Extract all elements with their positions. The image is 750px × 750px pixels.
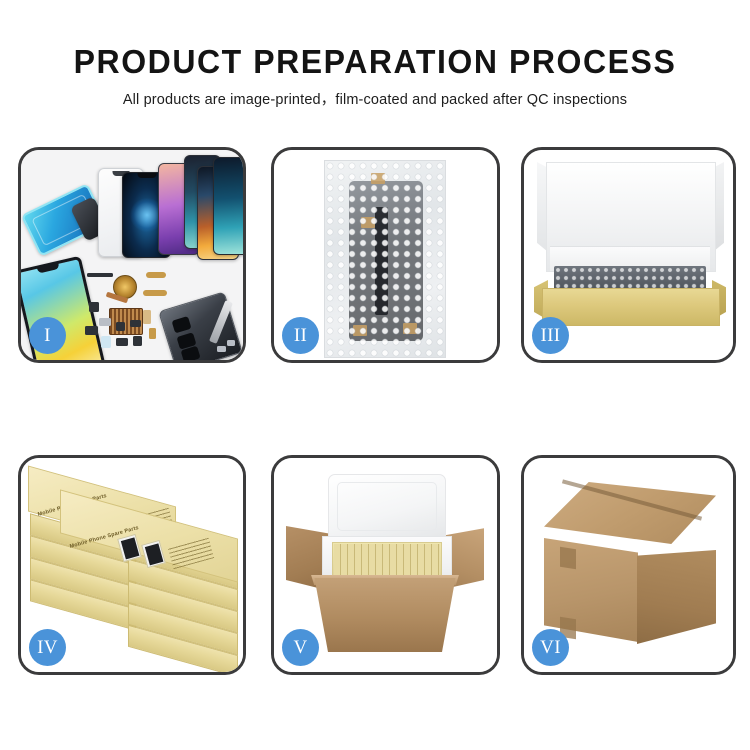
step-panel-3[interactable]: III: [521, 147, 736, 363]
carton-side-face: [637, 550, 716, 644]
chip-part: [130, 320, 141, 327]
chip-part: [217, 346, 226, 352]
carton-body: [310, 578, 460, 652]
chip-part: [116, 338, 128, 346]
step-panel-2[interactable]: II: [271, 147, 500, 363]
chip-part: [143, 310, 151, 324]
screen-cyan-display: [213, 157, 246, 255]
carton-tape-tab: [560, 547, 576, 570]
step-badge-5: V: [282, 629, 319, 666]
styrofoam-lid: [328, 474, 446, 544]
step-badge-4: IV: [29, 629, 66, 666]
chip-part: [227, 340, 235, 346]
chip-part: [101, 336, 111, 348]
bubble-bag: [324, 160, 446, 358]
step-panel-4[interactable]: Mobile Phone Spare Parts Mobile Phone Sp…: [18, 455, 246, 675]
step-panel-5[interactable]: V: [271, 455, 500, 675]
chip-part: [87, 273, 113, 277]
process-step-grid: I II III: [0, 147, 750, 687]
step-badge-1: I: [29, 317, 66, 354]
chip-part: [116, 322, 125, 331]
page-subtitle: All products are image-printed，film-coat…: [0, 80, 750, 109]
page-header: PRODUCT PREPARATION PROCESS All products…: [0, 0, 750, 109]
chip-part: [149, 328, 156, 339]
step-badge-6: VI: [532, 629, 569, 666]
step-badge-2: II: [282, 317, 319, 354]
carton-front-face: [544, 538, 638, 642]
chip-part: [146, 272, 166, 278]
chip-part: [99, 318, 111, 326]
chip-part: [143, 290, 167, 296]
kraft-box-front: [542, 288, 720, 326]
bubble-texture: [325, 161, 445, 357]
step-panel-1[interactable]: I: [18, 147, 246, 363]
chip-part: [133, 336, 142, 346]
chip-part: [85, 326, 98, 335]
step-badge-3: III: [532, 317, 569, 354]
chip-part: [89, 302, 99, 312]
page-title: PRODUCT PREPARATION PROCESS: [11, 0, 739, 80]
step-panel-6[interactable]: VI: [521, 455, 736, 675]
